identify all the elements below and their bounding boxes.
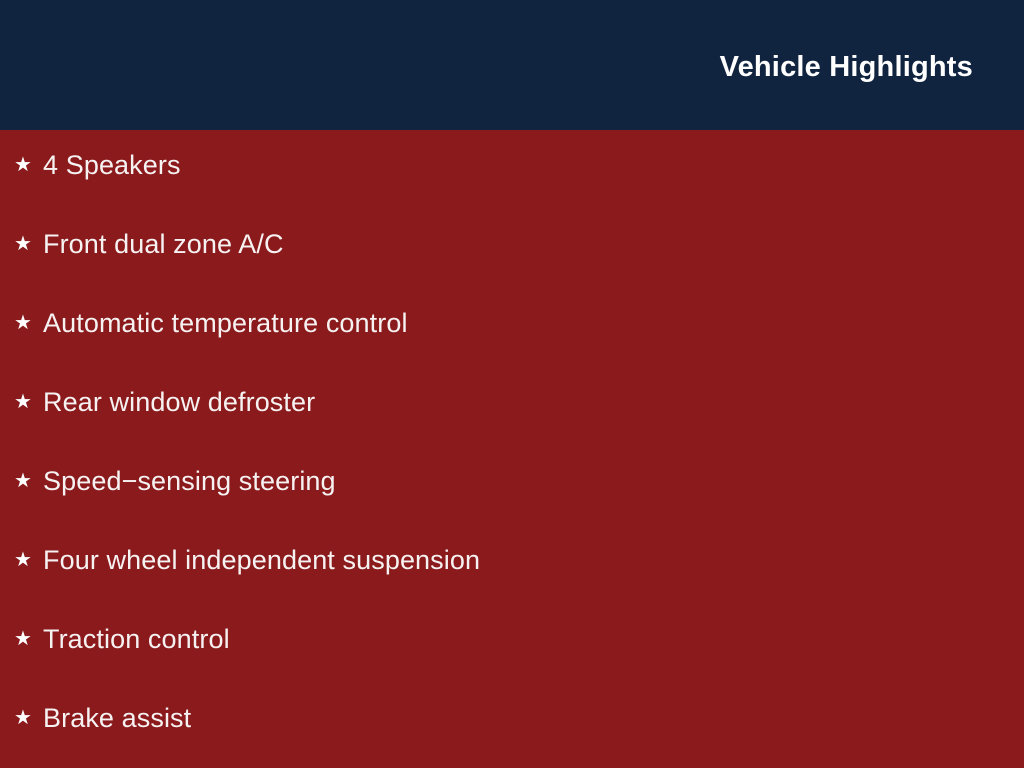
list-item: ★ Rear window defroster (0, 385, 1024, 464)
star-icon: ★ (14, 155, 43, 175)
slide-header: Vehicle Highlights (0, 0, 1024, 130)
feature-label: Brake assist (43, 701, 1024, 735)
feature-label: Automatic temperature control (43, 306, 1024, 340)
list-item: ★ Automatic temperature control (0, 306, 1024, 385)
star-icon: ★ (14, 629, 43, 649)
list-item: ★ Speed−sensing steering (0, 464, 1024, 543)
list-item: ★ Four wheel independent suspension (0, 543, 1024, 622)
feature-label: Speed−sensing steering (43, 464, 1024, 498)
star-icon: ★ (14, 708, 43, 728)
list-item: ★ Brake assist (0, 701, 1024, 768)
feature-label: 4 Speakers (43, 148, 1024, 182)
star-icon: ★ (14, 392, 43, 412)
list-item: ★ Traction control (0, 622, 1024, 701)
star-icon: ★ (14, 550, 43, 570)
slide-body: ★ 4 Speakers ★ Front dual zone A/C ★ Aut… (0, 130, 1024, 768)
vehicle-highlights-slide: Vehicle Highlights ★ 4 Speakers ★ Front … (0, 0, 1024, 768)
feature-label: Four wheel independent suspension (43, 543, 1024, 577)
feature-label: Front dual zone A/C (43, 227, 1024, 261)
star-icon: ★ (14, 313, 43, 333)
page-title: Vehicle Highlights (720, 53, 973, 82)
star-icon: ★ (14, 471, 43, 491)
feature-list: ★ 4 Speakers ★ Front dual zone A/C ★ Aut… (0, 148, 1024, 768)
feature-label: Traction control (43, 622, 1024, 656)
list-item: ★ Front dual zone A/C (0, 227, 1024, 306)
feature-label: Rear window defroster (43, 385, 1024, 419)
list-item: ★ 4 Speakers (0, 148, 1024, 227)
star-icon: ★ (14, 234, 43, 254)
